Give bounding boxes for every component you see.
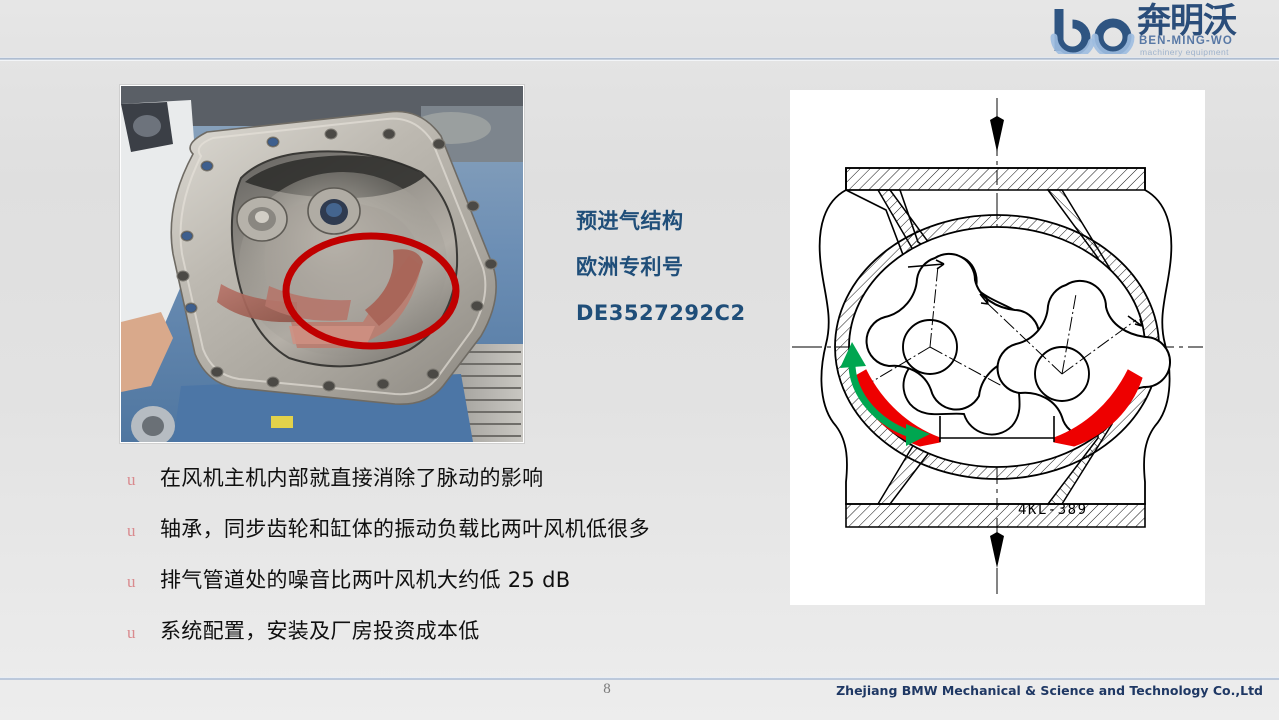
page-number: 8 — [592, 681, 622, 698]
bullet-marker-icon: u — [122, 623, 160, 643]
bullet-text: 排气管道处的噪音比两叶风机大约低 25 dB — [160, 564, 570, 594]
title-line-structure: 预进气结构 — [576, 198, 806, 244]
diagram-label: 4KL-389 — [1018, 502, 1088, 518]
bullet-text: 系统配置，安装及厂房投资成本低 — [160, 615, 480, 645]
patent-title-block: 预进气结构 欧洲专利号 DE3527292C2 — [576, 198, 806, 336]
bullet-list: u 在风机主机内部就直接消除了脉动的影响 u 轴承，同步齿轮和缸体的振动负载比两… — [122, 462, 822, 666]
footer-divider — [0, 677, 1279, 680]
bo-monogram-icon — [1049, 6, 1141, 54]
list-item: u 排气管道处的噪音比两叶风机大约低 25 dB — [122, 564, 822, 615]
bullet-marker-icon: u — [122, 572, 160, 592]
list-item: u 轴承，同步齿轮和缸体的振动负载比两叶风机低很多 — [122, 513, 822, 564]
header-divider-highlight — [0, 60, 1279, 61]
bullet-text: 轴承，同步齿轮和缸体的振动负载比两叶风机低很多 — [160, 513, 650, 543]
slide-header: 奔明沃 BEN-MING-WO machinery equipment — [0, 0, 1279, 59]
logo-english-name: BEN-MING-WO — [1139, 35, 1233, 47]
bullet-marker-icon: u — [122, 521, 160, 541]
title-line-patent-label: 欧洲专利号 — [576, 244, 806, 290]
slide-canvas: 奔明沃 BEN-MING-WO machinery equipment — [0, 0, 1279, 720]
logo-tagline: machinery equipment — [1140, 47, 1229, 57]
photo-image — [121, 86, 523, 442]
title-line-patent-number: DE3527292C2 — [576, 290, 806, 336]
list-item: u 系统配置，安装及厂房投资成本低 — [122, 615, 822, 666]
blower-casing-photo — [120, 85, 524, 443]
bullet-marker-icon: u — [122, 470, 160, 490]
company-logo: 奔明沃 BEN-MING-WO machinery equipment — [1041, 2, 1269, 58]
bullet-text: 在风机主机内部就直接消除了脉动的影响 — [160, 462, 543, 492]
blower-cross-section-diagram: 4KL-389 — [790, 90, 1205, 605]
footer-company-name: Zhejiang BMW Mechanical & Science and Te… — [836, 683, 1263, 698]
list-item: u 在风机主机内部就直接消除了脉动的影响 — [122, 462, 822, 513]
